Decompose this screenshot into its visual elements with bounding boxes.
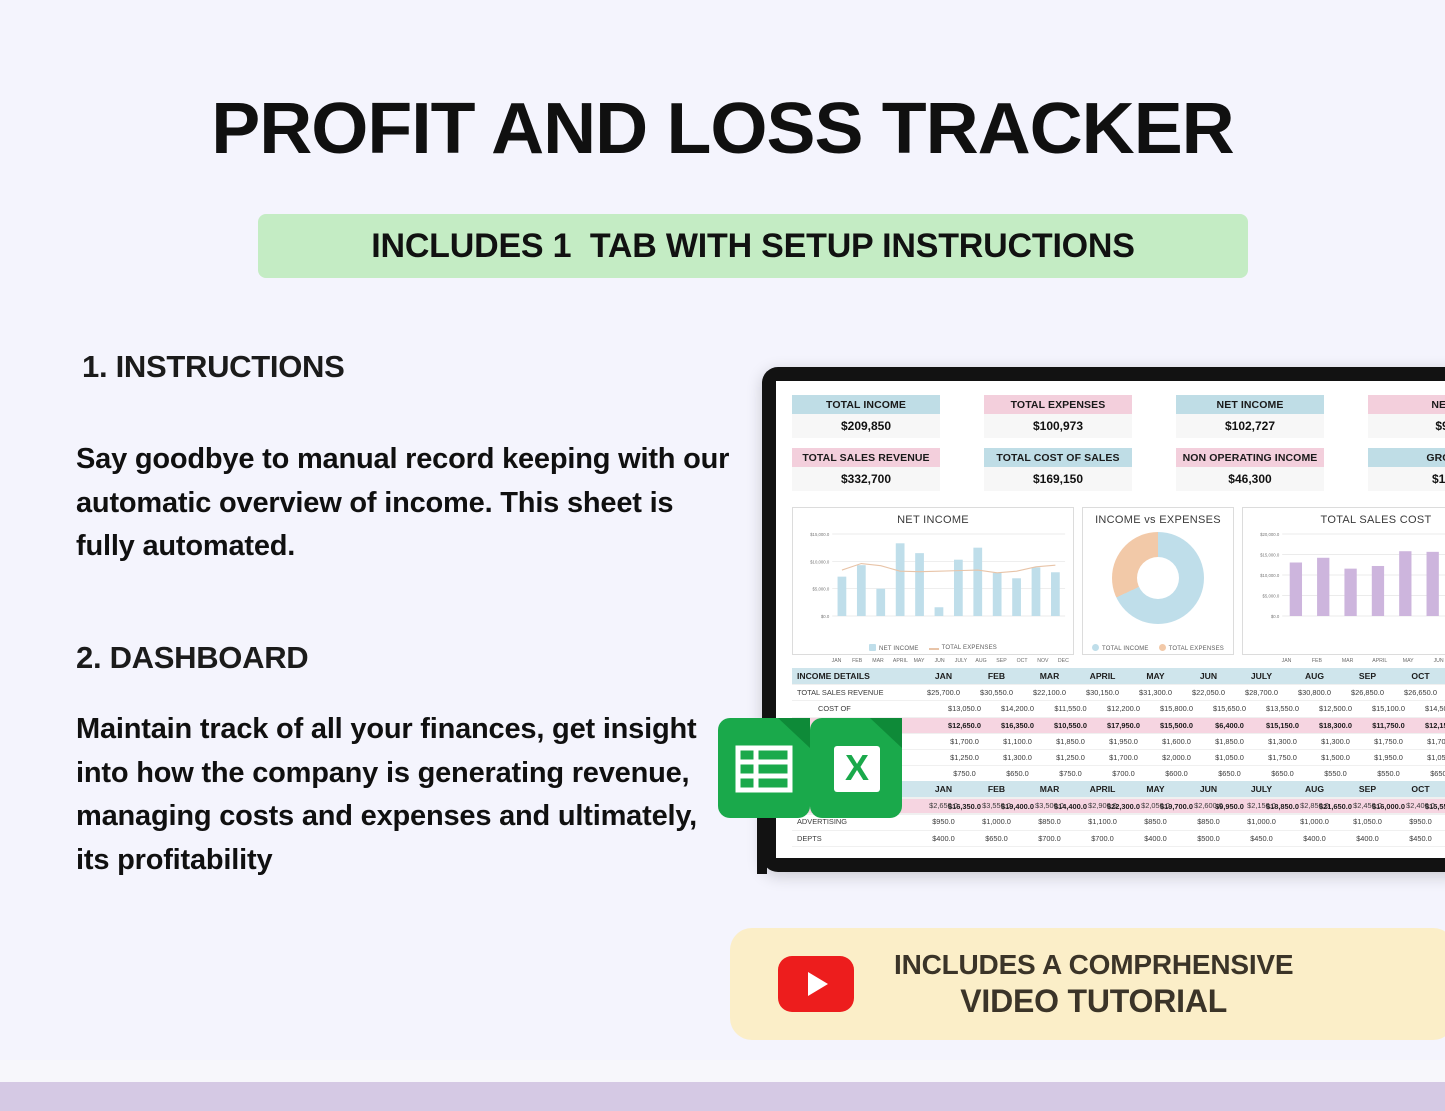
- table-cell: $700.0: [1023, 831, 1076, 846]
- table-cell: $30,550.0: [970, 685, 1023, 700]
- table-cell: $2,850.0: [1288, 798, 1341, 813]
- table-cell: $1,750.0: [1362, 734, 1415, 749]
- table-header-cell: MAY: [1129, 668, 1182, 684]
- section-body-instructions: Say goodbye to manual record keeping wit…: [76, 438, 736, 569]
- includes-tab-badge-label: INCLUDES 1 TAB WITH SETUP INSTRUCTIONS: [371, 227, 1135, 266]
- table-row: COST OF$13,050.0$14,200.0$11,550.0$12,20…: [792, 701, 1445, 717]
- table-cell: $28,700.0: [1235, 685, 1288, 700]
- table-header-cell: JAN: [917, 668, 970, 684]
- badge-prefix: INCLUDES 1: [371, 227, 590, 265]
- table-cell: $550.0: [1362, 766, 1415, 781]
- kpi-label: GROS: [1368, 448, 1445, 467]
- kpi-card-total-income: TOTAL INCOME $209,850: [792, 395, 940, 438]
- x-tick-label: APRIL: [893, 658, 904, 664]
- poster-canvas: PROFIT AND LOSS TRACKER INCLUDES 1 TAB W…: [0, 0, 1445, 1111]
- table-cell: $1,000.0: [1288, 814, 1341, 829]
- kpi-card-total-cost-of-sales: TOTAL COST OF SALES $169,150: [984, 448, 1132, 491]
- table-header-cell: JULY: [1235, 668, 1288, 684]
- table-cell: $11,750.0: [1362, 718, 1415, 733]
- table-cell: $700.0: [1076, 831, 1129, 846]
- table-cell: $400.0: [1341, 831, 1394, 846]
- kpi-card-net-cut: NET $9: [1368, 395, 1445, 438]
- table-cell: $400.0: [1288, 831, 1341, 846]
- chart-legend: TOTAL INCOME TOTAL EXPENSES: [1083, 644, 1233, 652]
- table-cell: $12,500.0: [1309, 701, 1362, 716]
- video-tutorial-banner[interactable]: INCLUDES A COMPRHENSIVE VIDEO TUTORIAL: [730, 928, 1445, 1040]
- kpi-value: $102,727: [1176, 414, 1324, 438]
- svg-text:$10,000.0: $10,000.0: [1260, 573, 1280, 578]
- table-cell: $1,000.0: [1235, 814, 1288, 829]
- table-cell: $15,800.0: [1150, 701, 1203, 716]
- table-header-cell: SEP: [1341, 668, 1394, 684]
- table-header-cell: AUG: [1288, 781, 1341, 797]
- chart-x-axis: JANFEBMARAPRILMAYJUNJULYAUG: [1281, 658, 1445, 664]
- table-cell: $1,950.0: [1097, 734, 1150, 749]
- table-cell: $550.0: [1309, 766, 1362, 781]
- table-cell: $2,600.0: [1182, 798, 1235, 813]
- bottom-purple-strip: [0, 1082, 1445, 1111]
- table-cell: $2,000.0: [1150, 750, 1203, 765]
- table-cell: $600.0: [1150, 766, 1203, 781]
- chart-plot-area: $0.0$5,000.0$10,000.0$15,000.0: [797, 528, 1069, 628]
- table-row: TOTAL SALES REVENUE$25,700.0$30,550.0$22…: [792, 685, 1445, 701]
- table-cell: $750.0: [1044, 766, 1097, 781]
- table-cell: $700.0: [1097, 766, 1150, 781]
- table-cell: $2,650.0: [917, 798, 970, 813]
- table-header-cell: APRIL: [1076, 781, 1129, 797]
- table-cell: $3,500.0: [1023, 798, 1076, 813]
- play-triangle-icon: [808, 972, 828, 996]
- svg-text:$5,000.0: $5,000.0: [1263, 593, 1280, 598]
- svg-text:$5,000.0: $5,000.0: [813, 587, 830, 592]
- x-tick-label: FEB: [852, 658, 863, 664]
- table-cell: $1,000.0: [970, 814, 1023, 829]
- x-tick-label: JULY: [955, 658, 966, 664]
- table-cell: $13,050.0: [938, 701, 991, 716]
- table-cell: $2,450.0: [1341, 798, 1394, 813]
- table-cell: $1,700.0: [938, 734, 991, 749]
- charts-row: NET INCOME $0.0$5,000.0$10,000.0$15,000.…: [792, 507, 1445, 655]
- table-cell: $1,950.0: [1362, 750, 1415, 765]
- table-cell: $1,500.0: [1309, 750, 1362, 765]
- table-cell: $26,850.0: [1341, 685, 1394, 700]
- svg-text:$0.0: $0.0: [821, 614, 830, 619]
- legend-item-total-expenses: TOTAL EXPENSES: [929, 645, 997, 651]
- table-cell: $1,850.0: [1203, 734, 1256, 749]
- x-tick-label: DEC: [1058, 658, 1069, 664]
- table-cell: $650.0: [991, 766, 1044, 781]
- table-header-cell: OCT: [1394, 781, 1445, 797]
- kpi-value: $9: [1368, 414, 1445, 438]
- section-heading-dashboard: 2. DASHBOARD: [76, 640, 308, 676]
- x-tick-label: JUN: [1433, 658, 1444, 664]
- x-tick-label: MAR: [872, 658, 883, 664]
- table-cell: $1,300.0: [1309, 734, 1362, 749]
- table-cell: $30,800.0: [1288, 685, 1341, 700]
- table-cell: $950.0: [917, 814, 970, 829]
- kpi-row: TOTAL INCOME $209,850 TOTAL EXPENSES $10…: [792, 395, 1445, 438]
- kpi-label: NON OPERATING INCOME: [1176, 448, 1324, 467]
- table-header-cell: JULY: [1235, 781, 1288, 797]
- table-header-row: INCOME DETAILSJANFEBMARAPRILMAYJUNJULYAU…: [792, 668, 1445, 685]
- x-tick-label: MAY: [914, 658, 925, 664]
- table-cell: $6,400.0: [1203, 718, 1256, 733]
- table-cell: $1,050.0: [1203, 750, 1256, 765]
- sales-cost-svg: $0.0$5,000.0$10,000.0$15,000.0$20,000.0: [1247, 528, 1445, 628]
- table-cell: $750.0: [938, 766, 991, 781]
- svg-text:$15,000.0: $15,000.0: [1260, 552, 1280, 557]
- table-cell: $1,700.0: [1415, 734, 1445, 749]
- table-cell: $12,150.0: [1415, 718, 1445, 733]
- table-cell: $850.0: [1023, 814, 1076, 829]
- chart-title: TOTAL SALES COST: [1247, 514, 1445, 526]
- table-cell: $950.0: [1394, 814, 1445, 829]
- x-tick-label: MAR: [1342, 658, 1353, 664]
- table-cell: $450.0: [1235, 831, 1288, 846]
- svg-text:$15,000.0: $15,000.0: [810, 532, 830, 537]
- kpi-card-total-sales-revenue: TOTAL SALES REVENUE $332,700: [792, 448, 940, 491]
- kpi-card-net-income: NET INCOME $102,727: [1176, 395, 1324, 438]
- kpi-label: TOTAL INCOME: [792, 395, 940, 414]
- table-cell: $1,250.0: [938, 750, 991, 765]
- table-cell: $22,050.0: [1182, 685, 1235, 700]
- x-tick-label: AUG: [975, 658, 986, 664]
- table-cell: $15,500.0: [1150, 718, 1203, 733]
- chart-income-vs-expenses: INCOME vs EXPENSES TOTAL INCOME TOTAL EX…: [1082, 507, 1234, 655]
- svg-text:X: X: [845, 747, 869, 788]
- table-cell: $14,200.0: [991, 701, 1044, 716]
- table-cell: $1,300.0: [991, 750, 1044, 765]
- table-cell: $1,750.0: [1256, 750, 1309, 765]
- table-header-cell: INCOME DETAILS: [792, 668, 917, 684]
- table-header-cell: JUN: [1182, 781, 1235, 797]
- chart-title: NET INCOME: [797, 514, 1069, 526]
- table-cell: $2,050.0: [1129, 798, 1182, 813]
- x-tick-label: FEB: [1311, 658, 1322, 664]
- table-cell: $1,600.0: [1150, 734, 1203, 749]
- x-tick-label: OCT: [1017, 658, 1028, 664]
- table-cell: $500.0: [1182, 831, 1235, 846]
- google-sheets-icon[interactable]: [718, 718, 810, 818]
- table-header-cell: AUG: [1288, 668, 1341, 684]
- table-cell: $1,100.0: [991, 734, 1044, 749]
- table-cell: $650.0: [970, 831, 1023, 846]
- table-cell: $1,850.0: [1044, 734, 1097, 749]
- table-cell: $850.0: [1182, 814, 1235, 829]
- kpi-value: $16: [1368, 467, 1445, 491]
- legend-item-total-income: TOTAL INCOME: [1092, 644, 1149, 652]
- table-cell: $650.0: [1415, 766, 1445, 781]
- includes-tab-badge: INCLUDES 1 TAB WITH SETUP INSTRUCTIONS: [258, 214, 1248, 278]
- table-header-cell: OCT: [1394, 668, 1445, 684]
- net-income-svg: $0.0$5,000.0$10,000.0$15,000.0: [797, 528, 1069, 628]
- chart-x-axis: JANFEBMARAPRILMAYJUNJULYAUGSEPOCTNOVDEC: [831, 658, 1069, 664]
- svg-text:$10,000.0: $10,000.0: [810, 559, 830, 564]
- kpi-row: TOTAL SALES REVENUE $332,700 TOTAL COST …: [792, 448, 1445, 491]
- table-cell: $16,350.0: [991, 718, 1044, 733]
- page-title: PROFIT AND LOSS TRACKER: [0, 88, 1445, 170]
- legend-item-total-expenses: TOTAL EXPENSES: [1159, 644, 1224, 652]
- table-cell: $1,050.0: [1415, 750, 1445, 765]
- table-cell: $400.0: [917, 831, 970, 846]
- kpi-card-gross-cut: GROS $16: [1368, 448, 1445, 491]
- table-cell: $650.0: [1256, 766, 1309, 781]
- table-header-cell: MAR: [1023, 668, 1076, 684]
- table-cell: $11,550.0: [1044, 701, 1097, 716]
- table-cell: $1,700.0: [1097, 750, 1150, 765]
- microsoft-excel-icon[interactable]: X: [810, 718, 902, 818]
- table-header-cell: JUN: [1182, 668, 1235, 684]
- table-cell: $17,950.0: [1097, 718, 1150, 733]
- kpi-label: TOTAL EXPENSES: [984, 395, 1132, 414]
- table-cell: $12,200.0: [1097, 701, 1150, 716]
- table-cell: $2,900.0: [1076, 798, 1129, 813]
- table-cell: $1,250.0: [1044, 750, 1097, 765]
- table-cell: $15,650.0: [1203, 701, 1256, 716]
- kpi-label: NET INCOME: [1176, 395, 1324, 414]
- table-header-cell: APRIL: [1076, 668, 1129, 684]
- x-tick-label: NOV: [1037, 658, 1048, 664]
- table-cell: $10,550.0: [1044, 718, 1097, 733]
- table-header-cell: FEB: [970, 781, 1023, 797]
- table-cell: $13,550.0: [1256, 701, 1309, 716]
- kpi-value: $46,300: [1176, 467, 1324, 491]
- table-cell: $3,550.0: [970, 798, 1023, 813]
- table-cell: $450.0: [1394, 831, 1445, 846]
- badge-suffix: WITH SETUP INSTRUCTIONS: [657, 227, 1135, 265]
- x-tick-label: JAN: [1281, 658, 1292, 664]
- kpi-card-total-expenses: TOTAL EXPENSES $100,973: [984, 395, 1132, 438]
- kpi-grid: TOTAL INCOME $209,850 TOTAL EXPENSES $10…: [792, 395, 1445, 501]
- table-cell: $26,650.0: [1394, 685, 1445, 700]
- kpi-label: TOTAL COST OF SALES: [984, 448, 1132, 467]
- table-row-label: COST OF: [792, 701, 938, 716]
- table-cell: $25,700.0: [917, 685, 970, 700]
- kpi-value: $100,973: [984, 414, 1132, 438]
- table-cell: $14,500.0: [1415, 701, 1445, 716]
- kpi-value: $209,850: [792, 414, 940, 438]
- svg-text:$0.0: $0.0: [1271, 614, 1280, 619]
- kpi-value: $169,150: [984, 467, 1132, 491]
- laptop-stand: [757, 812, 767, 874]
- table-cell: $30,150.0: [1076, 685, 1129, 700]
- table-cell: $2,150.0: [1235, 798, 1288, 813]
- table-cell: $15,100.0: [1362, 701, 1415, 716]
- chart-total-sales-cost: TOTAL SALES COST $0.0$5,000.0$10,000.0$1…: [1242, 507, 1445, 655]
- x-tick-label: SEP: [996, 658, 1007, 664]
- bottom-white-strip: [0, 1060, 1445, 1082]
- table-cell: $400.0: [1129, 831, 1182, 846]
- x-tick-label: JUN: [934, 658, 945, 664]
- table-cell: $850.0: [1129, 814, 1182, 829]
- legend-item-net-income: NET INCOME: [869, 644, 919, 652]
- table-header-cell: JAN: [917, 781, 970, 797]
- table-cell: $15,150.0: [1256, 718, 1309, 733]
- table-cell: $1,300.0: [1256, 734, 1309, 749]
- video-banner-text: INCLUDES A COMPRHENSIVE VIDEO TUTORIAL: [894, 949, 1293, 1020]
- video-banner-line1: INCLUDES A COMPRHENSIVE: [894, 949, 1293, 981]
- donut-chart: [1112, 532, 1204, 624]
- svg-text:$20,000.0: $20,000.0: [1260, 532, 1280, 537]
- table-cell: $12,650.0: [938, 718, 991, 733]
- chart-net-income: NET INCOME $0.0$5,000.0$10,000.0$15,000.…: [792, 507, 1074, 655]
- kpi-value: $332,700: [792, 467, 940, 491]
- table-row-label: TOTAL SALES REVENUE: [792, 685, 917, 700]
- chart-plot-area: $0.0$5,000.0$10,000.0$15,000.0$20,000.0: [1247, 528, 1445, 628]
- section-heading-instructions: 1. INSTRUCTIONS: [82, 349, 344, 385]
- table-cell: $1,100.0: [1076, 814, 1129, 829]
- table-header-cell: FEB: [970, 668, 1023, 684]
- chart-title: INCOME vs EXPENSES: [1087, 514, 1229, 526]
- badge-bold: TAB: [590, 227, 657, 265]
- table-header-cell: MAR: [1023, 781, 1076, 797]
- table-header-cell: SEP: [1341, 781, 1394, 797]
- table-cell: $650.0: [1203, 766, 1256, 781]
- section-body-dashboard: Maintain track of all your finances, get…: [76, 708, 736, 882]
- video-banner-line2: VIDEO TUTORIAL: [960, 983, 1227, 1020]
- table-cell: $2,400.0: [1394, 798, 1445, 813]
- kpi-card-non-operating-income: NON OPERATING INCOME $46,300: [1176, 448, 1324, 491]
- table-cell: $1,050.0: [1341, 814, 1394, 829]
- table-row: DEPTS$400.0$650.0$700.0$700.0$400.0$500.…: [792, 831, 1445, 847]
- chart-legend: NET INCOME TOTAL EXPENSES: [793, 644, 1073, 652]
- kpi-label: NET: [1368, 395, 1445, 414]
- kpi-label: TOTAL SALES REVENUE: [792, 448, 940, 467]
- x-tick-label: JAN: [831, 658, 842, 664]
- table-cell: $22,100.0: [1023, 685, 1076, 700]
- youtube-icon: [778, 956, 854, 1012]
- table-cell: $31,300.0: [1129, 685, 1182, 700]
- table-row-label: DEPTS: [792, 831, 917, 846]
- table-cell: $18,300.0: [1309, 718, 1362, 733]
- table-header-cell: MAY: [1129, 781, 1182, 797]
- x-tick-label: MAY: [1403, 658, 1414, 664]
- x-tick-label: APRIL: [1372, 658, 1383, 664]
